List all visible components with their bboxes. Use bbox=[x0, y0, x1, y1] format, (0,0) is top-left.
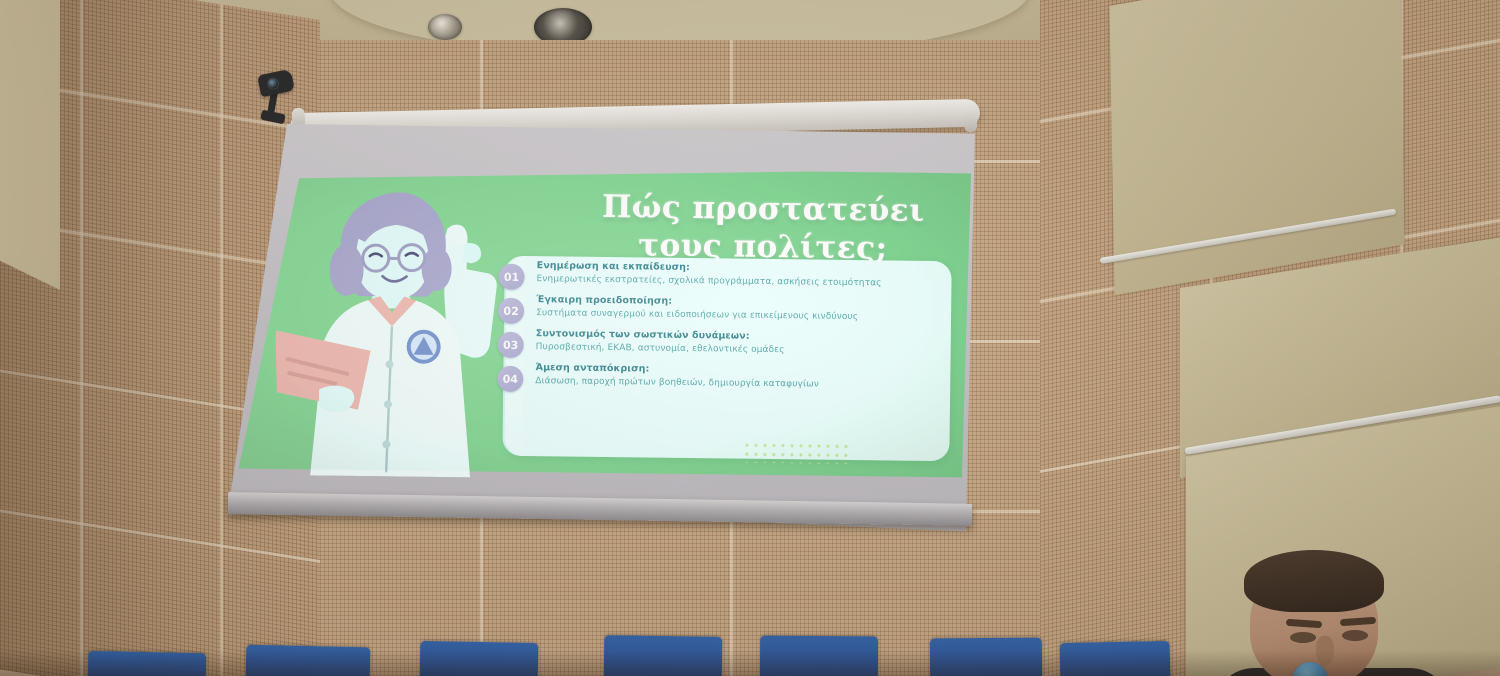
room-scene: Πώς προστατεύει τους πολίτες; 01 Ενημέρω… bbox=[0, 0, 1500, 676]
slide-title-line-1: Πώς προστατεύει bbox=[573, 189, 953, 231]
item-body: Διάσωση, παροχή πρώτων βοηθειών, δημιουρ… bbox=[535, 375, 819, 391]
projection-screen: Πώς προστατεύει τους πολίτες; 01 Ενημέρω… bbox=[222, 106, 978, 558]
item-body: Συστήματα συναγερμού και ειδοποιήσεων γι… bbox=[536, 307, 858, 324]
wall-corner-plaster bbox=[0, 0, 60, 290]
decorative-dot-pattern bbox=[742, 441, 852, 464]
list-item: 04 Άμεση ανταπόκριση: Διάσωση, παροχή πρ… bbox=[513, 362, 953, 397]
list-item: 01 Ενημέρωση και εκπαίδευση: Ενημερωτικέ… bbox=[514, 260, 954, 295]
item-number-badge: 04 bbox=[497, 366, 523, 392]
item-number-badge: 03 bbox=[498, 332, 524, 358]
ceiling-downlight-icon bbox=[428, 14, 462, 40]
list-item: 03 Συντονισμός των σωστικών δυνάμεων: Πυ… bbox=[514, 328, 954, 363]
slide-items-list: 01 Ενημέρωση και εκπαίδευση: Ενημερωτικέ… bbox=[513, 260, 955, 401]
roller-cap-right bbox=[964, 108, 977, 132]
list-item: 02 Έγκαιρη προειδοποίηση: Συστήματα συνα… bbox=[514, 294, 954, 329]
floor-shadow bbox=[0, 650, 1500, 676]
item-body: Πυροσβεστική, ΕΚΑΒ, αστυνομία, εθελοντικ… bbox=[536, 341, 785, 357]
item-number-badge: 02 bbox=[498, 298, 524, 324]
presenter-hair bbox=[1244, 550, 1384, 612]
illustration-woman-civil-protection bbox=[274, 175, 528, 478]
slide-canvas: Πώς προστατεύει τους πολίτες; 01 Ενημέρω… bbox=[234, 164, 978, 477]
item-number-badge: 01 bbox=[498, 264, 524, 290]
